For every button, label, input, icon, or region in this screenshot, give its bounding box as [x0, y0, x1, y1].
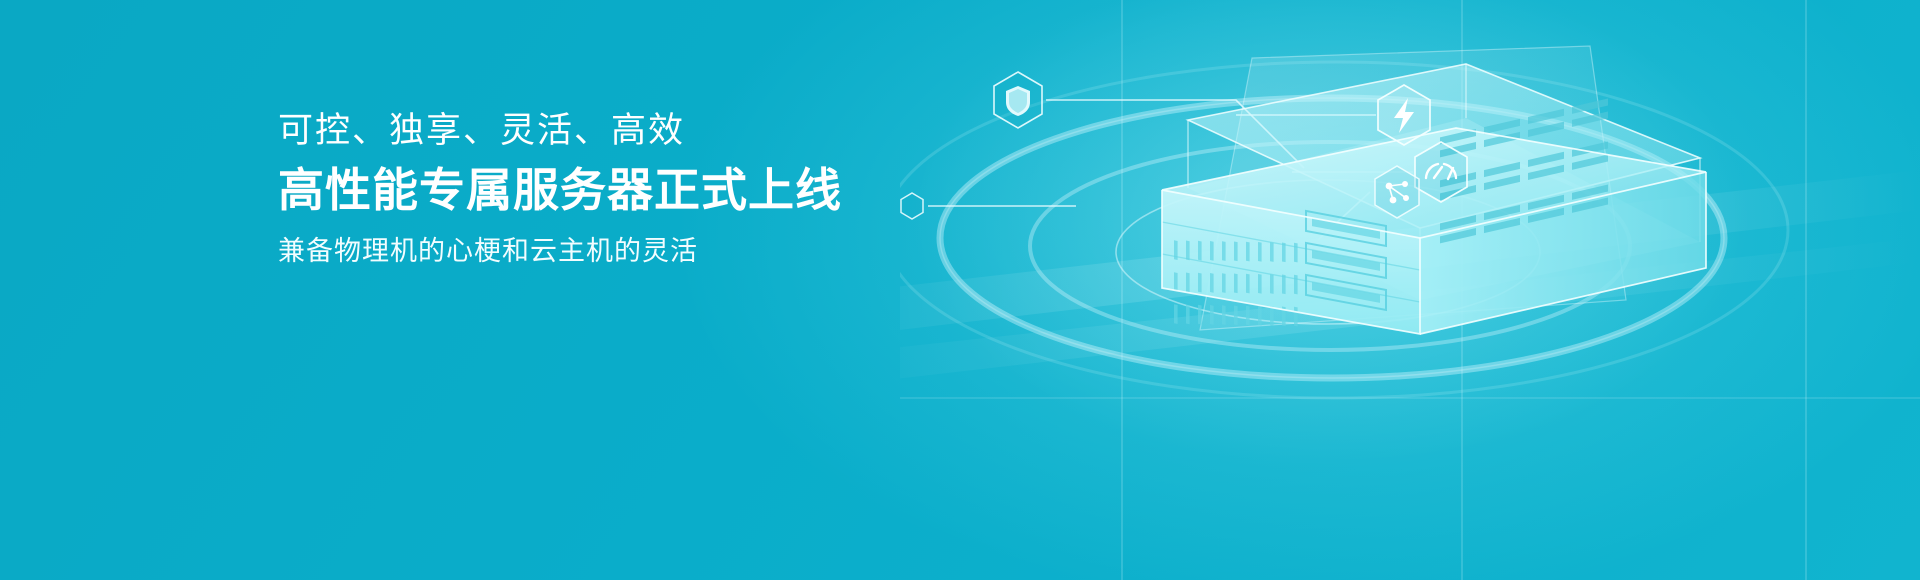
hero-subcopy: 兼备物理机的心梗和云主机的灵活 [278, 233, 1038, 269]
hero-copy: 可控、独享、灵活、高效 高性能专属服务器正式上线 兼备物理机的心梗和云主机的灵活 [278, 108, 1038, 269]
hero-headline: 高性能专属服务器正式上线 [278, 161, 1038, 221]
server-illustration [900, 0, 1920, 580]
hero-eyebrow: 可控、独享、灵活、高效 [278, 108, 1038, 155]
hero-banner: 可控、独享、灵活、高效 高性能专属服务器正式上线 兼备物理机的心梗和云主机的灵活 [0, 0, 1920, 580]
